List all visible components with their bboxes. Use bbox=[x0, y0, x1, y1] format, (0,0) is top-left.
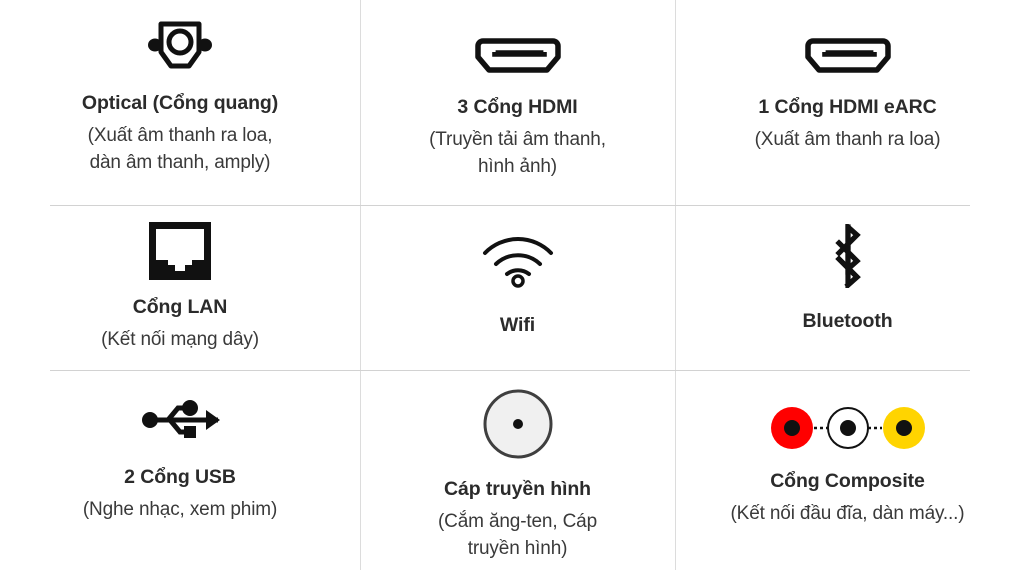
hdmi-earc-port-icon bbox=[803, 20, 893, 76]
port-description: (Kết nối mạng dây) bbox=[101, 327, 259, 354]
port-description-line: (Xuất âm thanh ra loa, bbox=[88, 123, 273, 150]
grid-divider-horizontal-1 bbox=[50, 205, 970, 206]
port-cell-lan: Cổng LAN (Kết nối mạng dây) bbox=[0, 218, 360, 354]
port-cell-wifi: Wifi bbox=[360, 222, 675, 337]
coaxial-cable-icon bbox=[482, 388, 554, 460]
grid-divider-horizontal-2 bbox=[50, 370, 970, 371]
composite-av-icon bbox=[768, 392, 928, 450]
wifi-icon bbox=[479, 222, 557, 288]
port-title: Wifi bbox=[500, 314, 535, 337]
port-title: Bluetooth bbox=[802, 310, 892, 333]
port-description: (Xuất âm thanh ra loa, dàn âm thanh, amp… bbox=[88, 123, 273, 177]
port-description: (Truyền tải âm thanh, hình ảnh) bbox=[429, 127, 606, 181]
port-title: Cổng LAN bbox=[133, 296, 228, 319]
port-description: (Nghe nhạc, xem phim) bbox=[83, 497, 277, 524]
port-description-line: truyền hình) bbox=[438, 536, 597, 563]
port-description-line: (Cắm ăng-ten, Cáp bbox=[438, 509, 597, 536]
port-title: Cổng Composite bbox=[770, 470, 925, 493]
port-cell-optical: Optical (Cổng quang) (Xuất âm thanh ra l… bbox=[0, 14, 360, 177]
port-title: 1 Cổng HDMI eARC bbox=[758, 96, 936, 119]
port-description-line: (Kết nối mạng dây) bbox=[101, 327, 259, 354]
port-description-line: hình ảnh) bbox=[429, 154, 606, 181]
bluetooth-icon bbox=[824, 222, 872, 288]
hdmi-port-icon bbox=[473, 20, 563, 76]
optical-port-icon bbox=[147, 14, 213, 76]
port-title: Optical (Cổng quang) bbox=[82, 92, 278, 115]
usb-port-icon bbox=[140, 392, 220, 444]
port-title: 2 Cổng USB bbox=[124, 466, 236, 489]
lan-port-icon bbox=[149, 218, 211, 280]
port-cell-hdmi-earc: 1 Cổng HDMI eARC (Xuất âm thanh ra loa) bbox=[675, 20, 1020, 154]
port-description: (Xuất âm thanh ra loa) bbox=[755, 127, 941, 154]
ports-grid: Optical (Cổng quang) (Xuất âm thanh ra l… bbox=[0, 0, 1020, 570]
port-cell-hdmi: 3 Cổng HDMI (Truyền tải âm thanh, hình ả… bbox=[360, 20, 675, 181]
port-cell-composite: Cổng Composite (Kết nối đầu đĩa, dàn máy… bbox=[675, 392, 1020, 528]
port-description: (Cắm ăng-ten, Cáp truyền hình) bbox=[438, 509, 597, 563]
port-title: 3 Cổng HDMI bbox=[457, 96, 577, 119]
port-title: Cáp truyền hình bbox=[444, 478, 591, 501]
port-description-line: (Nghe nhạc, xem phim) bbox=[83, 497, 277, 524]
port-cell-bluetooth: Bluetooth bbox=[675, 222, 1020, 333]
port-cell-coaxial: Cáp truyền hình (Cắm ăng-ten, Cáp truyền… bbox=[360, 388, 675, 563]
port-description-line: (Truyền tải âm thanh, bbox=[429, 127, 606, 154]
port-cell-usb: 2 Cổng USB (Nghe nhạc, xem phim) bbox=[0, 392, 360, 524]
port-description: (Kết nối đầu đĩa, dàn máy...) bbox=[731, 501, 965, 528]
port-description-line: (Xuất âm thanh ra loa) bbox=[755, 127, 941, 154]
port-description-line: (Kết nối đầu đĩa, dàn máy...) bbox=[731, 501, 965, 528]
port-description-line: dàn âm thanh, amply) bbox=[88, 150, 273, 177]
